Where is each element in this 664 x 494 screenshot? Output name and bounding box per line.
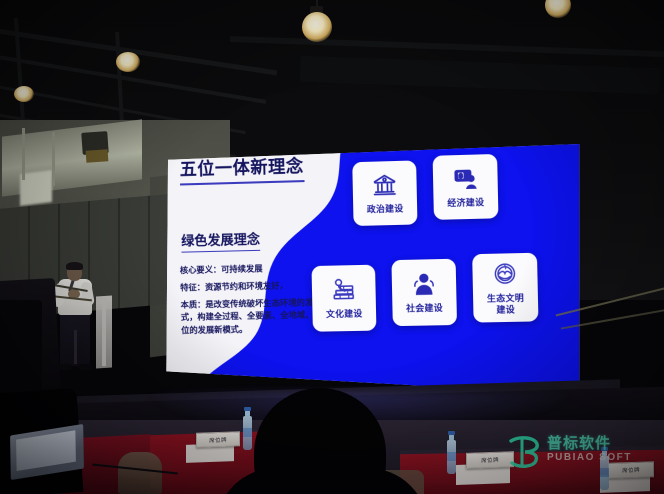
screen-perspective-inner: 五位一体新理念 绿色发展理念 核心要义：可持续发展 特征：资源节约和环境友好， … — [157, 143, 581, 401]
name-placard: 席位牌 — [196, 431, 240, 448]
slide-card-shengtai[interactable]: 生态文明 建设 — [472, 253, 538, 323]
ceiling-duct — [300, 56, 661, 95]
classical-building-icon — [371, 172, 398, 200]
slide-card-shehui[interactable]: 社会建设 — [391, 259, 457, 326]
presentation-slide: 五位一体新理念 绿色发展理念 核心要义：可持续发展 特征：资源节约和环境友好， … — [157, 143, 581, 401]
slide-card-label: 文化建设 — [326, 308, 363, 319]
slide-card-grid: 政治建设 $ — [344, 152, 580, 377]
presenter-shoe-left — [58, 364, 72, 370]
spotlight-2 — [116, 52, 140, 72]
presenter-shoe-right — [78, 364, 92, 370]
svg-text:$: $ — [459, 174, 463, 180]
window-mullion — [52, 132, 55, 186]
slide-card-jingji[interactable]: $ 经济建设 — [433, 154, 499, 220]
window-mullion — [22, 128, 25, 180]
ceiling-truss — [0, 26, 277, 75]
person-group-icon — [410, 271, 438, 298]
slide-card-label: 经济建设 — [447, 197, 484, 209]
slide-card-label: 政治建设 — [367, 203, 404, 215]
letter-b-logo-icon — [505, 432, 545, 472]
spotlight-3 — [14, 86, 34, 102]
chair-back — [118, 452, 162, 494]
eco-globe-leaf-icon — [491, 260, 519, 288]
slide-card-zhengzhi[interactable]: 政治建设 — [352, 160, 417, 226]
watermark-english-text: PUBIAO SOFT — [547, 452, 632, 463]
ceiling-beam — [230, 36, 664, 57]
lectern-post — [102, 300, 106, 366]
slide-card-label: 社会建设 — [406, 303, 443, 315]
watermark: 普标软件 PUBIAO SOFT — [505, 430, 655, 478]
books-scroll-icon — [330, 277, 357, 304]
slide-card-label: 生态文明 建设 — [487, 293, 525, 316]
led-projection-screen[interactable]: 五位一体新理念 绿色发展理念 核心要义：可持续发展 特征：资源节约和环境友好， … — [157, 143, 581, 401]
water-bottle — [243, 416, 252, 450]
slide-subtitle: 绿色发展理念 — [181, 228, 260, 252]
slide-card-wenhua[interactable]: 文化建设 — [311, 265, 376, 332]
water-bottle — [447, 440, 456, 474]
money-person-icon: $ — [451, 165, 479, 193]
conference-presentation-scene: 五位一体新理念 绿色发展理念 核心要义：可持续发展 特征：资源节约和环境友好， … — [0, 0, 664, 494]
presenter-hair — [66, 262, 83, 270]
presenter-leg-gap — [74, 330, 77, 364]
spotlight-4 — [545, 0, 571, 18]
wall-hvac-vent — [86, 149, 109, 163]
name-placard-text: 席位牌 — [209, 435, 227, 444]
watermark-chinese-text: 普标软件 — [547, 432, 611, 453]
name-placard-text: 席位牌 — [481, 456, 499, 465]
spotlight-1 — [302, 12, 332, 42]
